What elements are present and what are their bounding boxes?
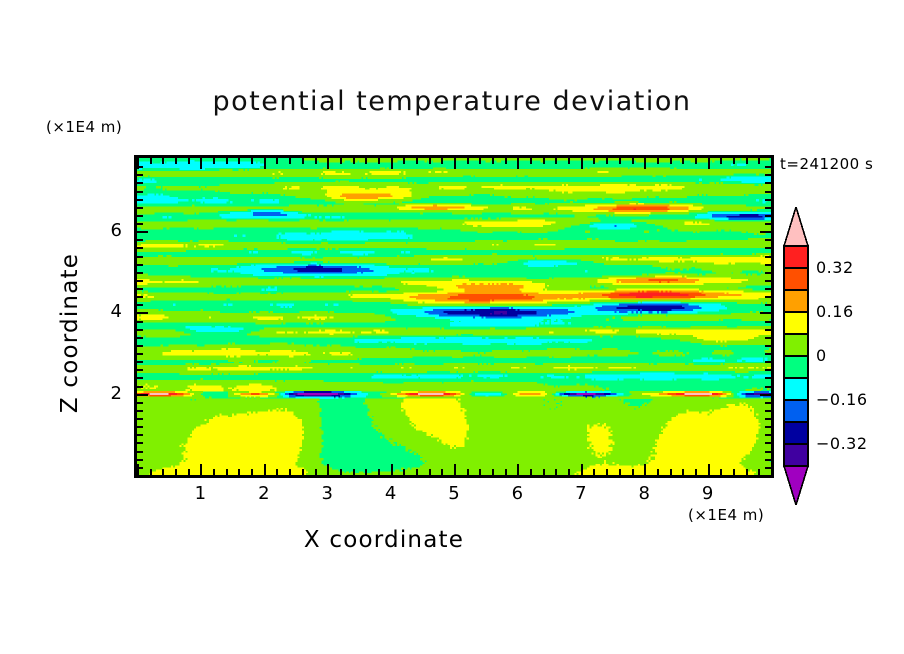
axis-tick	[765, 280, 771, 282]
axis-tick	[746, 469, 748, 475]
axis-tick	[695, 469, 697, 475]
axis-tick	[517, 464, 519, 475]
axis-tick	[137, 321, 143, 323]
axis-tick	[276, 158, 278, 164]
axis-tick	[188, 158, 190, 164]
axis-tick	[137, 166, 143, 168]
axis-tick	[505, 469, 507, 475]
axis-tick	[137, 215, 143, 217]
axis-tick	[391, 158, 393, 169]
axis-tick	[353, 469, 355, 475]
contour-plot-area[interactable]	[134, 155, 774, 478]
axis-tick	[619, 469, 621, 475]
axis-tick	[353, 158, 355, 164]
axis-tick	[765, 239, 771, 241]
axis-tick	[581, 464, 583, 475]
x-axis-label: X coordinate	[0, 527, 768, 553]
x-tick-label: 1	[185, 483, 215, 504]
axis-tick	[137, 361, 143, 363]
axis-tick	[137, 410, 143, 412]
timestamp-annotation: t=241200 s	[780, 155, 873, 173]
axis-tick	[137, 247, 143, 249]
axis-tick	[644, 464, 646, 475]
axis-tick	[765, 207, 771, 209]
axis-tick	[403, 158, 405, 164]
axis-tick	[758, 158, 760, 164]
axis-tick	[213, 158, 215, 164]
axis-tick	[682, 469, 684, 475]
x-axis-unit-label: (×1E4 m)	[688, 506, 764, 524]
axis-tick	[593, 469, 595, 475]
axis-tick	[137, 329, 143, 331]
axis-tick	[137, 231, 148, 233]
axis-tick	[720, 469, 722, 475]
axis-tick	[137, 207, 143, 209]
axis-tick	[289, 158, 291, 164]
axis-tick	[200, 158, 202, 169]
axis-tick	[733, 469, 735, 475]
axis-tick	[137, 199, 143, 201]
axis-tick	[188, 469, 190, 475]
axis-tick	[137, 442, 143, 444]
x-tick-label: 6	[502, 483, 532, 504]
axis-tick	[302, 158, 304, 164]
axis-tick	[479, 158, 481, 164]
axis-tick	[378, 158, 380, 164]
axis-tick	[568, 469, 570, 475]
x-tick-label: 4	[376, 483, 406, 504]
x-tick-label: 3	[312, 483, 342, 504]
axis-tick	[137, 451, 143, 453]
axis-tick	[137, 345, 143, 347]
axis-tick	[555, 469, 557, 475]
y-tick-label: 2	[92, 383, 122, 404]
axis-tick	[720, 158, 722, 164]
axis-tick	[657, 469, 659, 475]
axis-tick	[765, 434, 771, 436]
axis-tick	[765, 166, 771, 168]
x-tick-label: 7	[566, 483, 596, 504]
axis-tick	[765, 353, 771, 355]
axis-tick	[765, 247, 771, 249]
axis-tick	[765, 410, 771, 412]
axis-tick	[670, 469, 672, 475]
axis-tick	[765, 223, 771, 225]
x-tick-label: 9	[693, 483, 723, 504]
axis-tick	[150, 158, 152, 164]
axis-tick	[137, 312, 148, 314]
axis-tick	[765, 191, 771, 193]
axis-tick	[327, 464, 329, 475]
axis-tick	[555, 158, 557, 164]
axis-tick	[175, 158, 177, 164]
chart-title: potential temperature deviation	[0, 86, 904, 117]
contour-field	[137, 158, 771, 475]
x-tick-label: 2	[249, 483, 279, 504]
axis-tick	[137, 256, 143, 258]
axis-tick	[765, 475, 771, 477]
axis-tick	[200, 464, 202, 475]
axis-tick	[765, 329, 771, 331]
axis-tick	[733, 158, 735, 164]
axis-tick	[765, 451, 771, 453]
axis-tick	[606, 158, 608, 164]
figure-canvas: potential temperature deviation (×1E4 m)…	[0, 0, 904, 654]
axis-tick	[251, 469, 253, 475]
axis-tick	[340, 469, 342, 475]
axis-tick	[765, 386, 771, 388]
axis-tick	[765, 272, 771, 274]
axis-tick	[543, 469, 545, 475]
axis-tick	[137, 304, 143, 306]
axis-tick	[137, 223, 143, 225]
axis-tick	[454, 464, 456, 475]
axis-tick	[765, 459, 771, 461]
axis-tick	[137, 402, 143, 404]
axis-tick	[429, 158, 431, 164]
axis-tick	[765, 288, 771, 290]
axis-tick	[137, 353, 143, 355]
axis-tick	[137, 280, 143, 282]
axis-tick	[467, 469, 469, 475]
axis-tick	[289, 469, 291, 475]
axis-tick	[315, 158, 317, 164]
axis-tick	[467, 158, 469, 164]
axis-tick	[238, 158, 240, 164]
colorbar-tick-label: −0.16	[816, 390, 868, 409]
axis-tick	[226, 158, 228, 164]
axis-tick	[530, 469, 532, 475]
axis-tick	[765, 337, 771, 339]
axis-tick	[765, 215, 771, 217]
colorbar-tick-label: 0.32	[816, 258, 854, 277]
axis-tick	[315, 469, 317, 475]
axis-tick	[760, 394, 771, 396]
axis-tick	[657, 158, 659, 164]
axis-tick	[765, 304, 771, 306]
axis-tick	[632, 158, 634, 164]
axis-tick	[746, 158, 748, 164]
axis-tick	[175, 469, 177, 475]
axis-tick	[441, 469, 443, 475]
axis-tick	[238, 469, 240, 475]
axis-tick	[137, 182, 143, 184]
axis-tick	[492, 158, 494, 164]
axis-tick	[619, 158, 621, 164]
axis-tick	[137, 288, 143, 290]
axis-tick	[479, 469, 481, 475]
axis-tick	[581, 158, 583, 169]
axis-tick	[137, 191, 143, 193]
axis-tick	[162, 469, 164, 475]
axis-tick	[276, 469, 278, 475]
y-axis-unit-label: (×1E4 m)	[46, 118, 122, 136]
axis-tick	[492, 469, 494, 475]
axis-tick	[137, 369, 143, 371]
axis-tick	[644, 158, 646, 169]
axis-tick	[760, 312, 771, 314]
axis-tick	[416, 469, 418, 475]
axis-tick	[765, 296, 771, 298]
colorbar-tick-label: 0	[816, 346, 827, 365]
axis-tick	[765, 361, 771, 363]
axis-tick	[593, 158, 595, 164]
axis-tick	[264, 158, 266, 169]
axis-tick	[137, 426, 143, 428]
axis-tick	[765, 402, 771, 404]
axis-tick	[137, 296, 143, 298]
axis-tick	[162, 158, 164, 164]
axis-tick	[403, 469, 405, 475]
axis-tick	[695, 158, 697, 164]
axis-tick	[429, 469, 431, 475]
axis-tick	[378, 469, 380, 475]
axis-tick	[137, 467, 143, 469]
y-axis-label: Z coordinate	[57, 233, 83, 433]
x-tick-label: 5	[439, 483, 469, 504]
axis-tick	[765, 182, 771, 184]
axis-tick	[765, 467, 771, 469]
axis-tick	[416, 158, 418, 164]
axis-tick	[765, 256, 771, 258]
axis-tick	[682, 158, 684, 164]
axis-tick	[137, 337, 143, 339]
axis-tick	[765, 199, 771, 201]
axis-tick	[264, 464, 266, 475]
axis-tick	[137, 394, 148, 396]
axis-tick	[454, 158, 456, 169]
axis-tick	[226, 469, 228, 475]
x-tick-label: 8	[629, 483, 659, 504]
axis-tick	[708, 158, 710, 169]
axis-tick	[137, 418, 143, 420]
axis-tick	[758, 469, 760, 475]
axis-tick	[137, 264, 143, 266]
axis-tick	[670, 158, 672, 164]
axis-tick	[505, 158, 507, 164]
axis-tick	[327, 158, 329, 169]
axis-tick	[365, 158, 367, 164]
axis-tick	[251, 158, 253, 164]
axis-tick	[765, 369, 771, 371]
axis-tick	[765, 174, 771, 176]
axis-tick	[632, 469, 634, 475]
colorbar-tick-label: −0.32	[816, 434, 868, 453]
axis-tick	[517, 158, 519, 169]
axis-tick	[765, 264, 771, 266]
axis-tick	[765, 418, 771, 420]
axis-tick	[760, 231, 771, 233]
axis-tick	[530, 158, 532, 164]
axis-tick	[568, 158, 570, 164]
axis-tick	[213, 469, 215, 475]
axis-tick	[765, 345, 771, 347]
axis-tick	[708, 464, 710, 475]
axis-tick	[137, 475, 143, 477]
axis-tick	[765, 377, 771, 379]
axis-tick	[137, 239, 143, 241]
axis-tick	[137, 434, 143, 436]
colorbar-tick-label: 0.16	[816, 302, 854, 321]
colorbar[interactable]	[783, 207, 809, 505]
y-tick-label: 4	[92, 301, 122, 322]
axis-tick	[137, 174, 143, 176]
axis-tick	[137, 377, 143, 379]
axis-tick	[441, 158, 443, 164]
axis-tick	[765, 442, 771, 444]
axis-tick	[150, 469, 152, 475]
axis-tick	[340, 158, 342, 164]
axis-tick	[137, 386, 143, 388]
y-tick-label: 6	[92, 220, 122, 241]
axis-tick	[543, 158, 545, 164]
axis-tick	[302, 469, 304, 475]
axis-tick	[137, 272, 143, 274]
axis-tick	[391, 464, 393, 475]
axis-tick	[137, 459, 143, 461]
axis-tick	[137, 464, 139, 475]
axis-tick	[765, 321, 771, 323]
axis-tick	[765, 426, 771, 428]
axis-tick	[606, 469, 608, 475]
axis-tick	[365, 469, 367, 475]
